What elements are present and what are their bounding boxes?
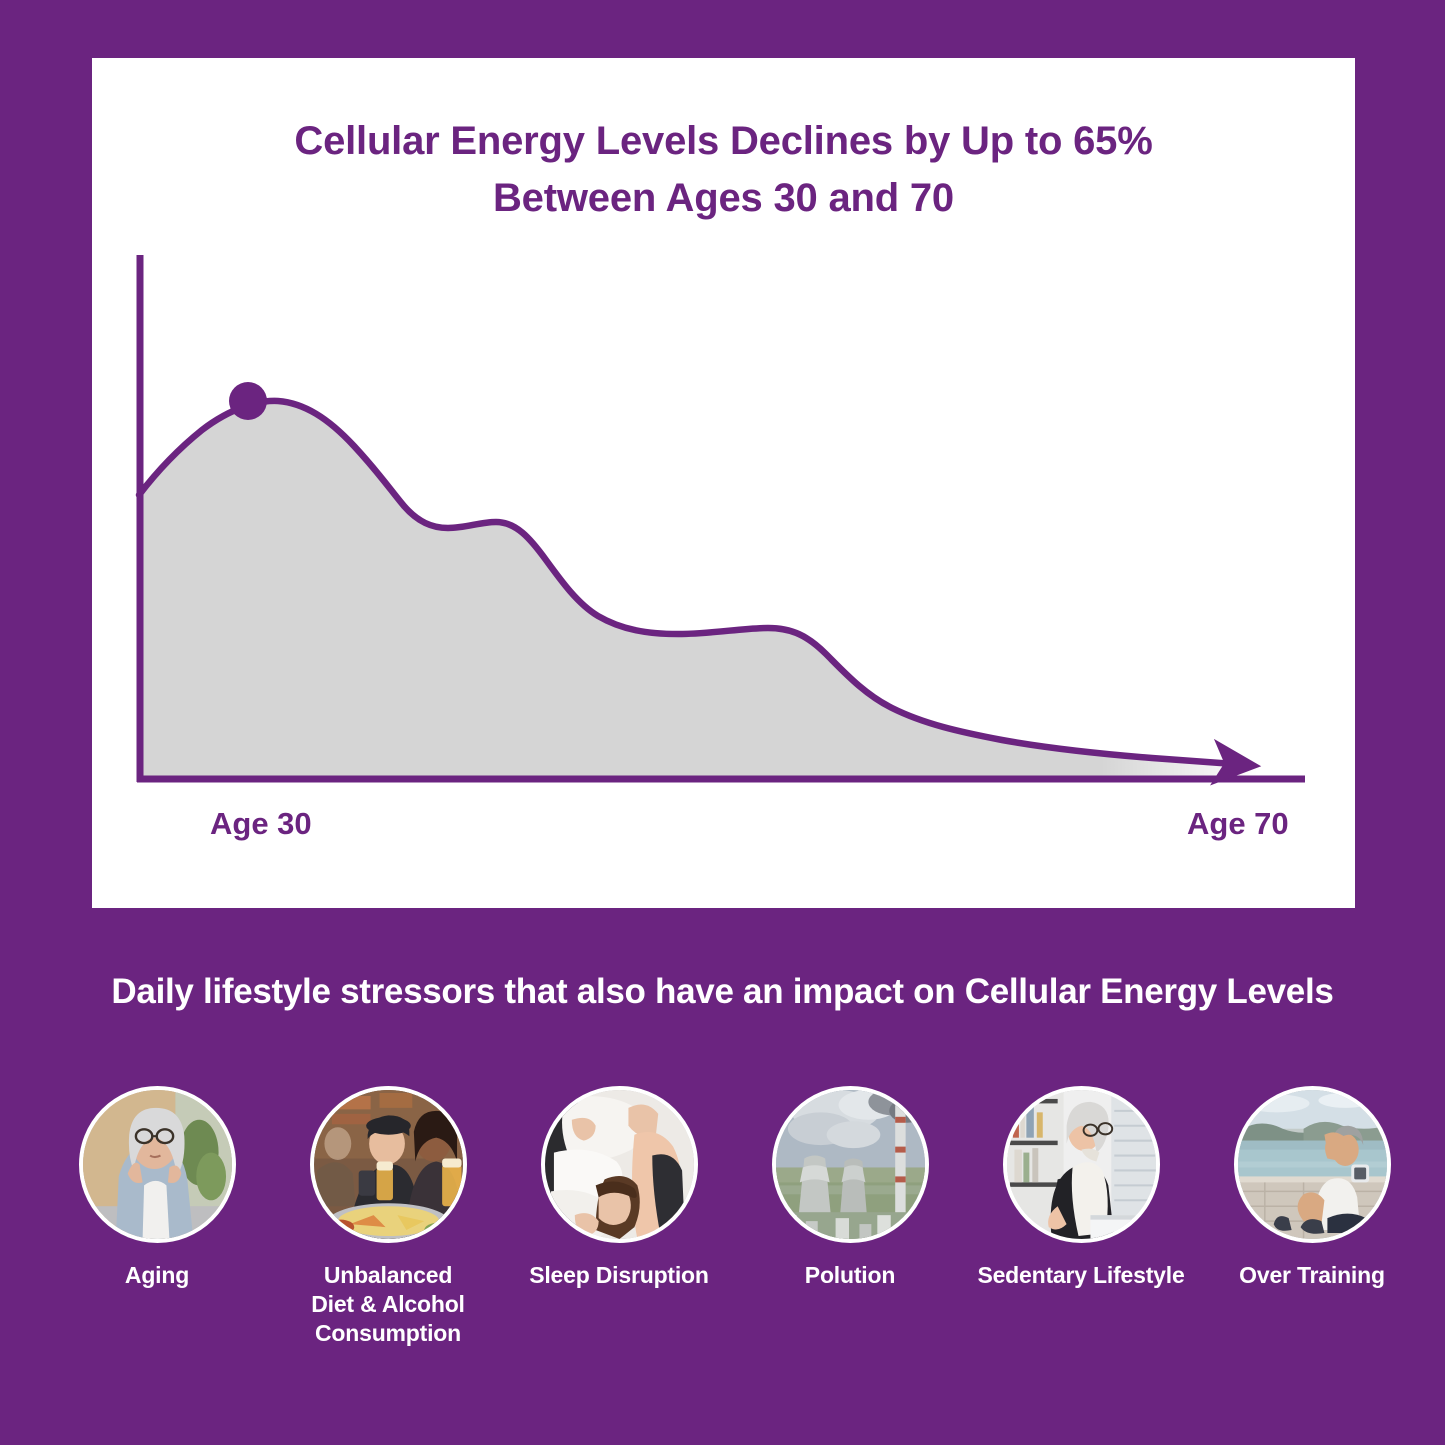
stressor-label-sedentary-lifestyle: Sedentary Lifestyle [966,1261,1196,1290]
stressor-item-aging: Aging [42,1086,272,1290]
peak-marker-dot [229,382,267,420]
area-fill [139,401,1258,780]
stressor-label-polution: Polution [735,1261,965,1290]
power-plant-smokestacks-photo [772,1086,929,1243]
man-resting-waterfront-photo [1234,1086,1391,1243]
stressors-heading: Daily lifestyle stressors that also have… [0,972,1445,1012]
chart-plot-area [92,58,1355,908]
axis-label-age-70: Age 70 [1187,806,1289,842]
stressor-item-sedentary-lifestyle: Sedentary Lifestyle [966,1086,1196,1290]
axis-label-age-30: Age 30 [210,806,312,842]
energy-decline-area-chart [92,58,1355,908]
stressor-item-over-training: Over Training [1197,1086,1427,1290]
stressor-label-diet-alcohol: Unbalanced Diet & Alcohol Consumption [273,1261,503,1347]
stressors-row: Aging [42,1086,1403,1416]
stressor-label-aging: Aging [42,1261,272,1290]
stressor-label-over-training: Over Training [1197,1261,1427,1290]
chart-card: Cellular Energy Levels Declines by Up to… [92,58,1355,908]
senior-woman-portrait-photo [79,1086,236,1243]
woman-back-pain-desk-photo [1003,1086,1160,1243]
woman-in-bed-pillow-photo [541,1086,698,1243]
stressor-label-sleep-disruption: Sleep Disruption [504,1261,734,1290]
stressor-item-polution: Polution [735,1086,965,1290]
stressor-item-diet-alcohol: Unbalanced Diet & Alcohol Consumption [273,1086,503,1347]
stressor-item-sleep-disruption: Sleep Disruption [504,1086,734,1290]
friends-food-beer-photo [310,1086,467,1243]
